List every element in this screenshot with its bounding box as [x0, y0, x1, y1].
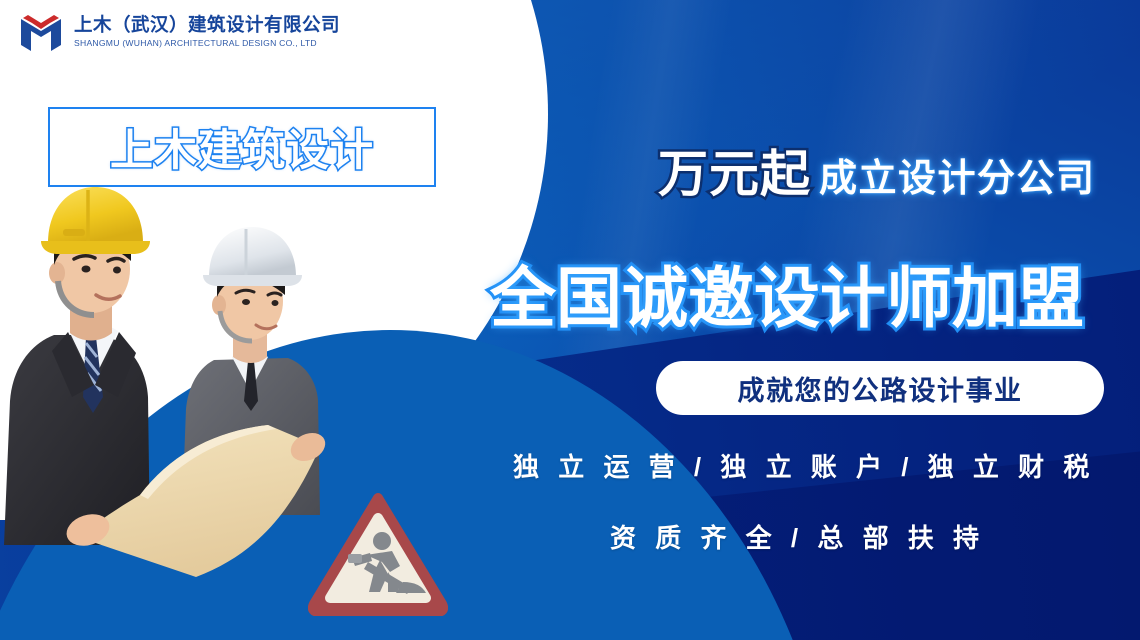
slogan-pill[interactable]: 成就您的公路设计事业	[656, 361, 1104, 415]
men-at-work-warning-sign-icon	[308, 492, 448, 616]
price-headline-row: 万元起 成立设计分公司	[658, 134, 1096, 206]
headline-column: 万元起 成立设计分公司 全国诚邀设计师加盟 成就您的公路设计事业 独 立 运 营…	[470, 0, 1140, 640]
price-suffix-text: 成立设计分公司	[819, 147, 1096, 202]
benefit-line-2: 资 质 齐 全 / 总 部 扶 持	[610, 518, 985, 555]
main-headline-text: 全国诚邀设计师加盟	[490, 245, 1084, 341]
company-name-en: SHANGMU (WUHAN) ARCHITECTURAL DESIGN CO.…	[74, 37, 340, 50]
engineers-photo	[0, 185, 350, 585]
promo-banner: 上木（武汉）建筑设计有限公司 SHANGMU (WUHAN) ARCHITECT…	[0, 0, 1140, 640]
company-name-cn: 上木（武汉）建筑设计有限公司	[74, 14, 340, 35]
company-logo-bar: 上木（武汉）建筑设计有限公司 SHANGMU (WUHAN) ARCHITECT…	[18, 10, 340, 54]
boxed-title-frame: 上木建筑设计	[48, 107, 436, 187]
boxed-title-text: 上木建筑设计	[110, 116, 374, 178]
benefit-line-1: 独 立 运 营 / 独 立 账 户 / 独 立 财 税	[513, 447, 1095, 484]
shangmu-cube-logo-icon	[18, 10, 64, 54]
slogan-pill-text: 成就您的公路设计事业	[738, 369, 1023, 408]
engineer-left	[4, 187, 150, 545]
company-name-block: 上木（武汉）建筑设计有限公司 SHANGMU (WUHAN) ARCHITECT…	[74, 14, 340, 50]
price-prefix-text: 万元起	[658, 134, 811, 206]
